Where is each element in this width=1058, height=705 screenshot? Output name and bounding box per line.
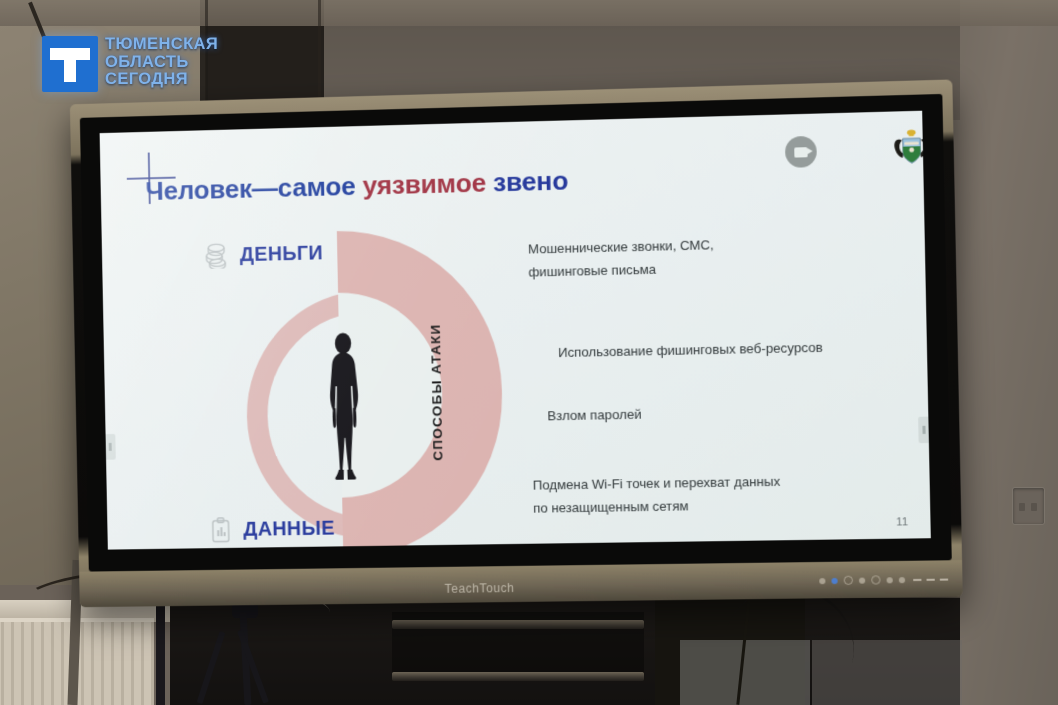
label-data-text: ДАННЫЕ — [243, 517, 335, 541]
coins-stack-icon — [205, 243, 227, 269]
label-money-text: ДЕНЬГИ — [240, 242, 324, 267]
slide-side-handle-right[interactable] — [918, 417, 930, 444]
ceiling-band — [0, 0, 1058, 26]
watermark-line-3: СЕГОДНЯ — [105, 71, 218, 89]
interactive-display[interactable]: Человек—самое уязвимое звено СПОСОБЫ АТА… — [70, 79, 963, 607]
attack-methods-label: СПОСОБЫ АТАКИ — [428, 323, 446, 461]
attack-method-3: Взлом паролей — [547, 403, 642, 428]
slide-side-handle-left[interactable] — [105, 434, 116, 460]
attack-method-4: Подмена Wi-Fi точек и перехват данных по… — [533, 470, 781, 520]
presentation-slide[interactable]: Человек—самое уязвимое звено СПОСОБЫ АТА… — [100, 111, 931, 550]
attack-ring-diagram: СПОСОБЫ АТАКИ — [234, 226, 548, 549]
attack-method-2: Использование фишинговых веб-ресурсов — [558, 336, 823, 364]
shelf-lower — [392, 672, 644, 681]
human-silhouette — [312, 330, 376, 490]
tyumen-t-logo-icon — [42, 36, 98, 92]
slide-title-part2: звено — [486, 165, 569, 197]
slide-title: Человек—самое уязвимое звено — [145, 165, 568, 207]
display-control-buttons[interactable] — [819, 575, 905, 585]
slide-title-part1: Человек—самое — [145, 171, 363, 206]
watermark-line-2: ОБЛАСТЬ — [105, 54, 218, 72]
shelf-upper — [392, 620, 644, 629]
watermark-line-1: ТЮМЕНСКАЯ — [105, 36, 218, 54]
device-brand-label: TeachTouch — [445, 581, 515, 596]
page-number: 11 — [896, 516, 908, 528]
watermark-text: ТЮМЕНСКАЯ ОБЛАСТЬ СЕГОДНЯ — [105, 36, 218, 89]
clipboard-document-icon — [211, 517, 231, 543]
slide-title-highlight: уязвимое — [362, 168, 486, 201]
video-camera-icon[interactable] — [785, 136, 817, 168]
label-money: ДЕНЬГИ — [205, 240, 323, 269]
power-outlet — [1012, 487, 1045, 525]
label-data: ДАННЫЕ — [211, 516, 335, 544]
channel-watermark: ТЮМЕНСКАЯ ОБЛАСТЬ СЕГОДНЯ — [42, 36, 218, 92]
display-indicator-lights — [913, 579, 948, 581]
attack-method-1: Мошеннические звонки, СМС, фишинговые пи… — [528, 233, 715, 284]
